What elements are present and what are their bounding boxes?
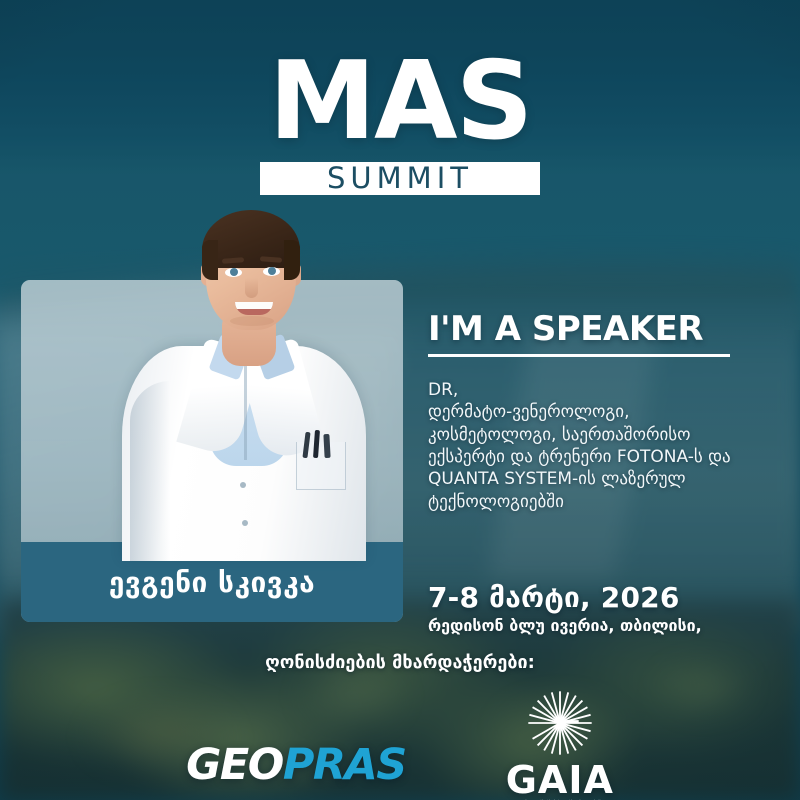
coat-shading [130,381,170,561]
nose [245,278,258,298]
gaia-logo[interactable]: GAIA georgian aesthetic international as… [506,687,614,800]
speaker-details-column: I'M A SPEAKER DR, დერმატო-ვენეროლოგი, კო… [428,312,768,635]
hair-side-right [284,240,300,280]
teeth [235,302,273,309]
bio-line: დერმატო-ვენეროლოგი, [428,401,768,423]
speaker-portrait [118,196,368,556]
speaker-heading: I'M A SPEAKER [428,312,768,348]
mas-summit-logo: MAS SUMMIT [0,48,800,195]
sponsors-label: ღონისძიების მხარდაჭერები: [0,652,800,673]
pen-icon [323,434,330,458]
iris-right [268,267,276,275]
speaker-bio: DR, დერმატო-ვენეროლოგი, კოსმეტოლოგი, საე… [428,379,768,514]
bio-line: QUANTA SYSTEM-ის ლაზერულ [428,468,768,490]
heading-underline [428,354,730,357]
coat-button [240,482,246,488]
chin-shading [230,316,274,326]
gaia-wordmark: GAIA [506,761,614,799]
iris-left [230,268,238,276]
sponsors-section: ღონისძიების მხარდაჭერები: GEOPRAS [0,652,800,800]
summit-bar: SUMMIT [260,162,540,195]
bio-line: ტექნოლოგიებში [428,491,768,513]
event-date: 7-8 მარტი, 2026 [428,581,768,614]
geopras-logo[interactable]: GEOPRAS [186,744,406,787]
mas-wordmark: MAS [0,48,800,156]
geopras-logo-part-two: PRAS [283,740,406,790]
hair-side-left [202,240,218,280]
summit-label: SUMMIT [327,164,473,193]
coat-seam [244,364,247,460]
bio-line: DR, [428,379,768,401]
gaia-spiral-g-icon [521,687,599,759]
sponsor-logo-row: GEOPRAS [0,701,800,800]
geopras-logo-part-one: GEO [186,740,283,790]
bio-line: კოსმეტოლოგი, საერთაშორისო [428,424,768,446]
event-venue: რედისონ ბლუ ივერია, თბილისი, [428,616,768,635]
bio-line: ექსპერტი და ტრენერი FOTONA-ს და [428,446,768,468]
speaker-name: ევგენი სკივკა [109,566,315,599]
speaker-announcement-poster: MAS SUMMIT ევგენი სკივკა [0,0,800,800]
coat-button [242,520,248,526]
